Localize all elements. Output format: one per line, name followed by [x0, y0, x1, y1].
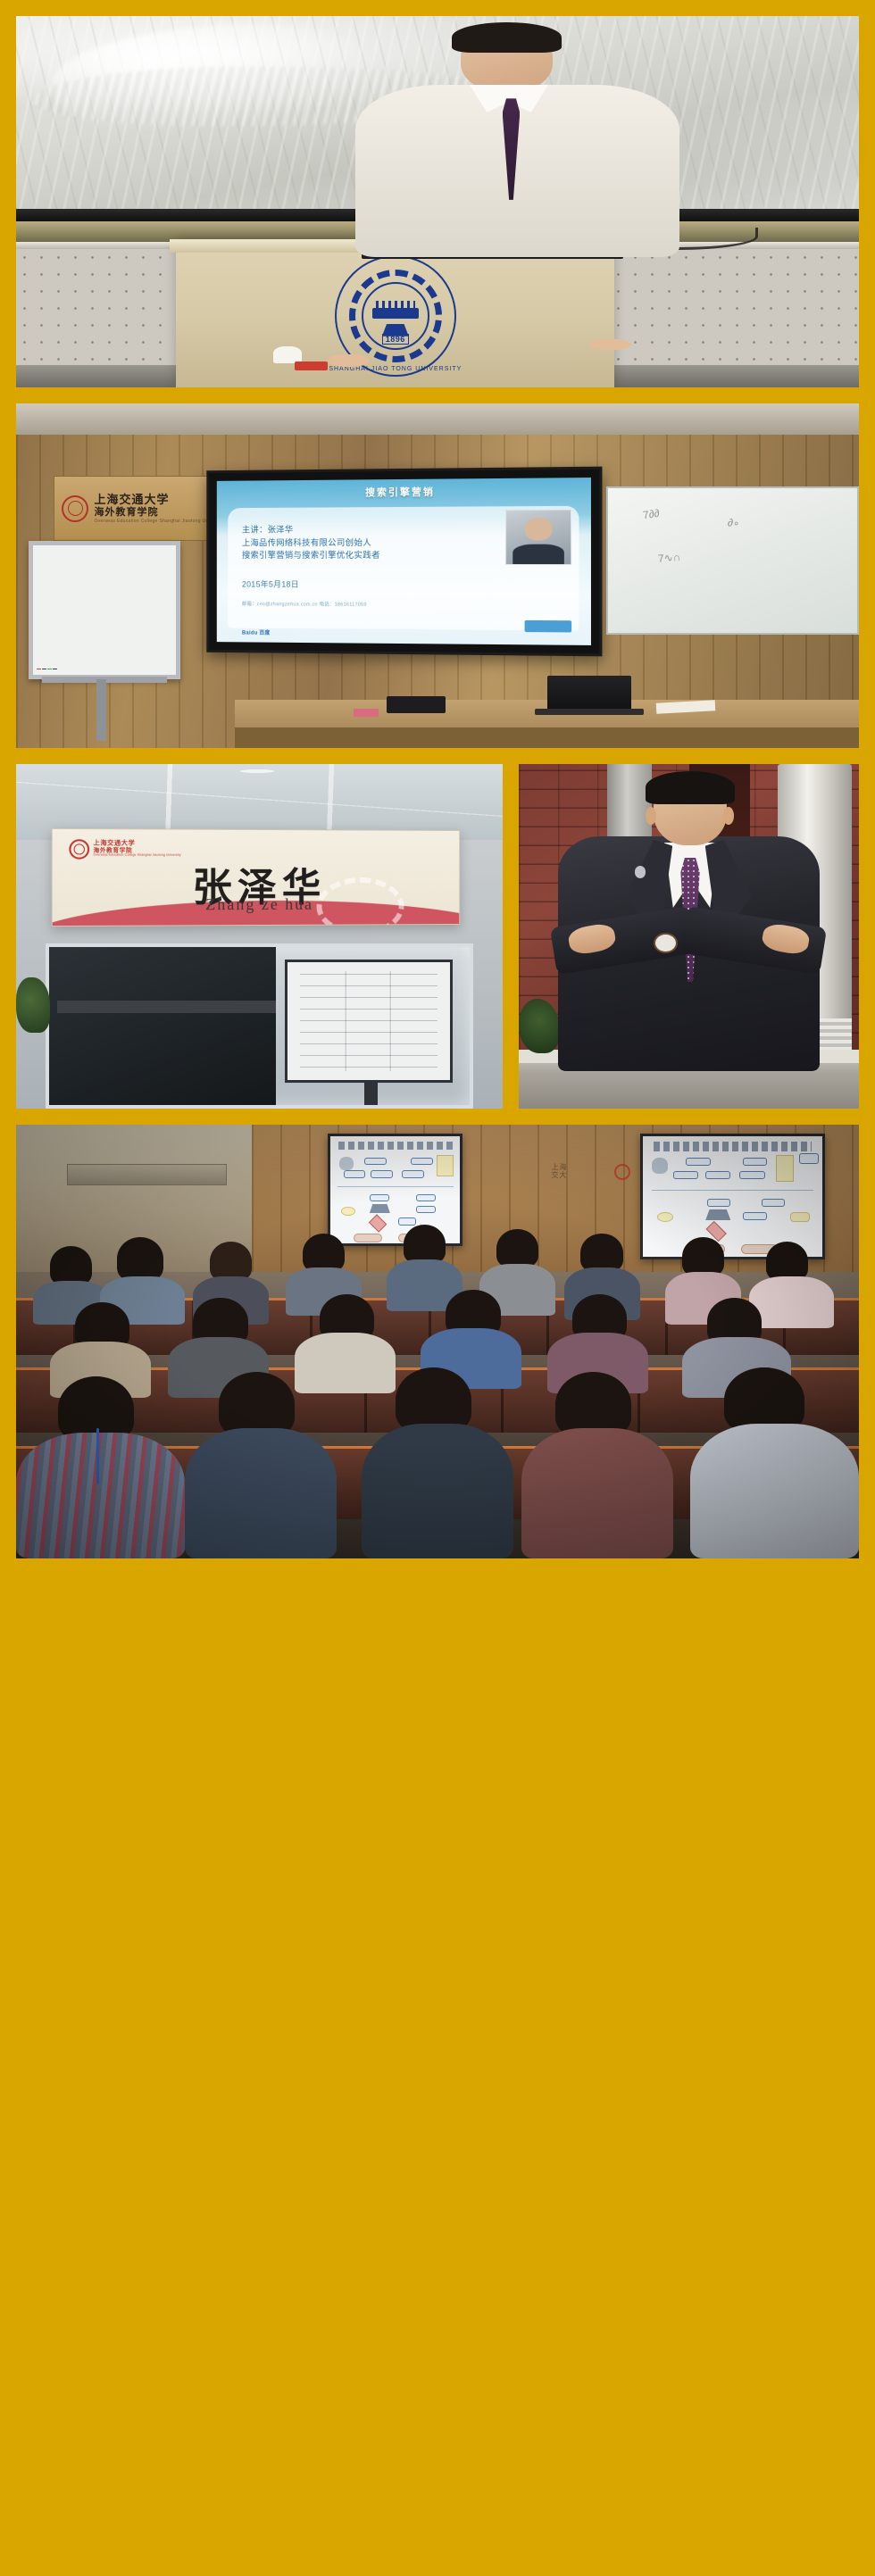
desk-device-box [387, 696, 446, 713]
wall-whiteboard: 7∂∂ ∂∘ 7∿∩ [606, 486, 859, 635]
photo-classroom-projector: 上海交通大学 海外教育学院 Overseas Education College… [16, 403, 859, 748]
speaker-figure [404, 27, 622, 257]
banner-name-pinyin: Zhang ze hua [205, 896, 313, 915]
slide-body-text: 主讲：张泽华 上海品传网络科技有限公司创始人 搜索引擎营销与搜索引擎优化实践者 [242, 524, 487, 564]
slide-line-2: 上海品传网络科技有限公司创始人 [242, 537, 487, 551]
ceiling [16, 403, 859, 435]
banner-gear-watermark [316, 877, 404, 927]
audience-body [16, 1433, 185, 1558]
hall-wall-text: 上海交大 [551, 1164, 567, 1180]
audience-head [580, 1234, 622, 1273]
projection-screen-frame: 搜索引擎营销 主讲：张泽华 上海品传网络科技有限公司创始人 搜索引擎营销与搜索引… [206, 467, 602, 657]
diagram-node [799, 1153, 819, 1164]
diagram-node [416, 1194, 436, 1201]
diagram-decision [369, 1214, 387, 1233]
audience-head [682, 1237, 724, 1276]
glass-partition-room [46, 943, 474, 1109]
diagram-note [776, 1155, 794, 1182]
diagram-laptop-icon [705, 1209, 730, 1220]
audience-head [303, 1234, 345, 1273]
portrait-ear-left [646, 807, 656, 825]
seal-anvil-icon [372, 308, 419, 319]
audience-head [724, 1367, 804, 1433]
slide-title: 搜索引擎营销 [216, 483, 590, 500]
portrait-lapel-pin [635, 866, 646, 877]
wall-plaque: 上海交通大学 海外教育学院 Overseas Education College… [54, 476, 213, 541]
diagram-node [762, 1199, 785, 1207]
diagram-divider [652, 1190, 814, 1191]
presentation-slide: 搜索引擎营销 主讲：张泽华 上海品传网络科技有限公司创始人 搜索引擎营销与搜索引… [216, 478, 590, 645]
banner-seal-icon [69, 839, 89, 859]
diagram-node [743, 1212, 766, 1220]
audience-body [749, 1276, 833, 1328]
audience-body [521, 1428, 673, 1558]
photo-collage: 1896 SHANGHAI JIAO TONG UNIVERSITY [0, 0, 875, 2576]
tissue-box-item [273, 346, 302, 363]
screen-right-title [654, 1142, 812, 1151]
seal-gear-ring: 1896 [349, 270, 442, 362]
hall-wall-seal-icon [614, 1164, 630, 1180]
banner-seal-block: 上海交通大学 海外教育学院 Overseas Education College… [69, 839, 180, 860]
photo-podium-lecture: 1896 SHANGHAI JIAO TONG UNIVERSITY [16, 16, 859, 387]
diagram-node [743, 1158, 766, 1166]
interior-desk [57, 1001, 276, 1013]
collage-row-4: 上海交大 [16, 1125, 859, 1558]
plaque-line-cn-1: 上海交通大学 [94, 493, 224, 507]
diagram-note [437, 1155, 454, 1176]
whiteboard-scribble-3: 7∿∩ [657, 551, 680, 565]
portrait-hair [646, 771, 736, 804]
ceiling-light-icon [240, 769, 274, 773]
diagram-pill [354, 1234, 382, 1242]
audience-head [404, 1225, 446, 1264]
photo-portrait [519, 764, 859, 1109]
diagram-node [398, 1217, 416, 1225]
diagram-node [371, 1170, 393, 1177]
diagram-circle-note [657, 1212, 673, 1222]
flip-chart-columns [304, 971, 434, 1070]
diagram-note [790, 1212, 810, 1222]
audience-head [117, 1237, 163, 1281]
photo-name-banner: 上海交通大学 海外教育学院 Overseas Education College… [16, 764, 503, 1109]
slide-line-1: 主讲：张泽华 [242, 524, 487, 538]
slide-speaker-photo [505, 510, 571, 565]
diagram-person-icon [652, 1158, 668, 1174]
desk-pink-item [354, 709, 379, 717]
projection-screen-right [640, 1134, 826, 1259]
flip-chart-board [285, 960, 454, 1083]
plaque-text-block: 上海交通大学 海外教育学院 Overseas Education College… [94, 493, 224, 524]
speaker-left-hand [328, 354, 370, 367]
lanyard [96, 1428, 99, 1484]
lecture-desk-front [235, 727, 859, 748]
desk-laptop-base [535, 709, 645, 716]
photo-audience: 上海交大 [16, 1125, 859, 1558]
marker-green [47, 669, 52, 669]
marker-red [37, 669, 41, 669]
diagram-person-icon [339, 1157, 354, 1171]
audience-head [219, 1372, 295, 1437]
name-banner: 上海交通大学 海外教育学院 Overseas Education College… [51, 828, 459, 927]
portrait-ear-right [723, 807, 734, 825]
diagram-node [416, 1206, 436, 1213]
wall-vent [67, 1164, 227, 1185]
diagram-node [707, 1199, 730, 1207]
diagram-node [370, 1194, 389, 1201]
diagram-node [739, 1171, 764, 1179]
slide-date: 2015年5月18日 [242, 578, 299, 590]
diagram-node [344, 1170, 366, 1177]
whiteboard-scribble-1: 7∂∂ [642, 507, 660, 521]
diagram-node [673, 1171, 698, 1179]
slide-baidu-logo: Baidu 百度 [242, 628, 271, 636]
audience-head [396, 1367, 471, 1433]
diagram-divider [337, 1186, 454, 1187]
red-object [295, 361, 329, 370]
seal-core: 1896 [362, 282, 429, 350]
audience-body [295, 1333, 396, 1393]
audience-body [362, 1424, 513, 1558]
banner-seal-text: 上海交通大学 海外教育学院 Overseas Education College… [93, 841, 180, 859]
audience-body [185, 1428, 337, 1558]
diagram-laptop-icon [370, 1204, 390, 1214]
diagram-node [686, 1158, 711, 1166]
audience-head [496, 1229, 538, 1268]
slide-contact: 邮箱：ceo@zhangzehua.com.cn 电话：18616117059 [242, 601, 367, 609]
screen-left-title [338, 1142, 453, 1151]
marker-blue [53, 669, 57, 669]
projection-screen-left [328, 1134, 462, 1246]
audience-head [50, 1246, 92, 1285]
speaker-hair [452, 22, 562, 53]
collage-row-2: 上海交通大学 海外教育学院 Overseas Education College… [16, 403, 859, 748]
plaque-line-cn-2: 海外教育学院 [94, 507, 224, 519]
slide-corner-badge [525, 620, 571, 632]
whiteboard-stand [96, 679, 106, 741]
plaque-seal-icon [62, 495, 88, 522]
plaque-line-en: Overseas Education College Shanghai Jiao… [94, 519, 224, 524]
diagram-node [364, 1158, 387, 1165]
portrait-figure [553, 775, 825, 1071]
seal-institution-en: SHANGHAI JIAO TONG UNIVERSITY [329, 366, 462, 372]
mobile-whiteboard [29, 541, 180, 678]
seal-founded-year: 1896 [382, 334, 409, 345]
flip-chart-leg [364, 1080, 377, 1109]
collage-row-3: 上海交通大学 海外教育学院 Overseas Education College… [16, 764, 859, 1109]
slide-line-3: 搜索引擎营销与搜索引擎优化实践者 [242, 550, 487, 563]
audience-body [690, 1424, 859, 1558]
potted-plant [16, 977, 50, 1033]
collage-row-1: 1896 SHANGHAI JIAO TONG UNIVERSITY [16, 16, 859, 387]
desk-laptop-screen [547, 676, 631, 710]
speaker-right-hand [589, 339, 631, 350]
marker-black [42, 669, 46, 669]
audience-head [555, 1372, 631, 1437]
diagram-node [411, 1158, 433, 1165]
diagram-circle-note [341, 1207, 355, 1216]
audience-head [766, 1242, 808, 1281]
lectern: 1896 SHANGHAI JIAO TONG UNIVERSITY [176, 239, 614, 387]
dark-interior [49, 947, 277, 1105]
whiteboard-scribble-2: ∂∘ [727, 516, 740, 529]
diagram-node [705, 1171, 730, 1179]
audience-head [210, 1242, 252, 1281]
diagram-node [402, 1170, 424, 1177]
banner-seal-en: Overseas Education College Shanghai Jiao… [93, 854, 180, 858]
